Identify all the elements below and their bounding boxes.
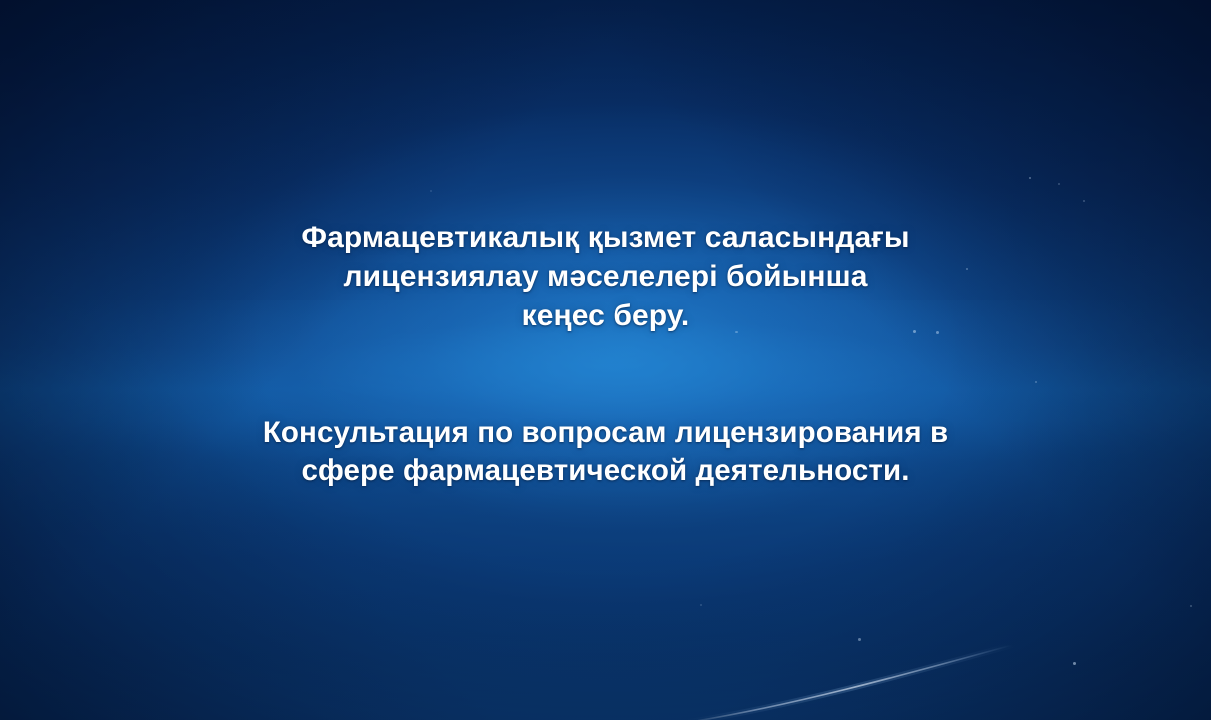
kazakh-text-block: Фармацевтикалық қызмет саласындағы лицен…	[0, 218, 1211, 335]
russian-text-block: Консультация по вопросам лицензирования …	[0, 414, 1211, 490]
kazakh-line-3: кеңес беру.	[0, 296, 1211, 335]
kazakh-line-2: лицензиялау мәселелері бойынша	[0, 257, 1211, 296]
text-layer: Фармацевтикалық қызмет саласындағы лицен…	[0, 0, 1211, 720]
russian-line-2: сфере фармацевтической деятельности.	[0, 452, 1211, 490]
slide-canvas: Фармацевтикалық қызмет саласындағы лицен…	[0, 0, 1211, 720]
kazakh-line-1: Фармацевтикалық қызмет саласындағы	[0, 218, 1211, 257]
russian-line-1: Консультация по вопросам лицензирования …	[0, 414, 1211, 452]
